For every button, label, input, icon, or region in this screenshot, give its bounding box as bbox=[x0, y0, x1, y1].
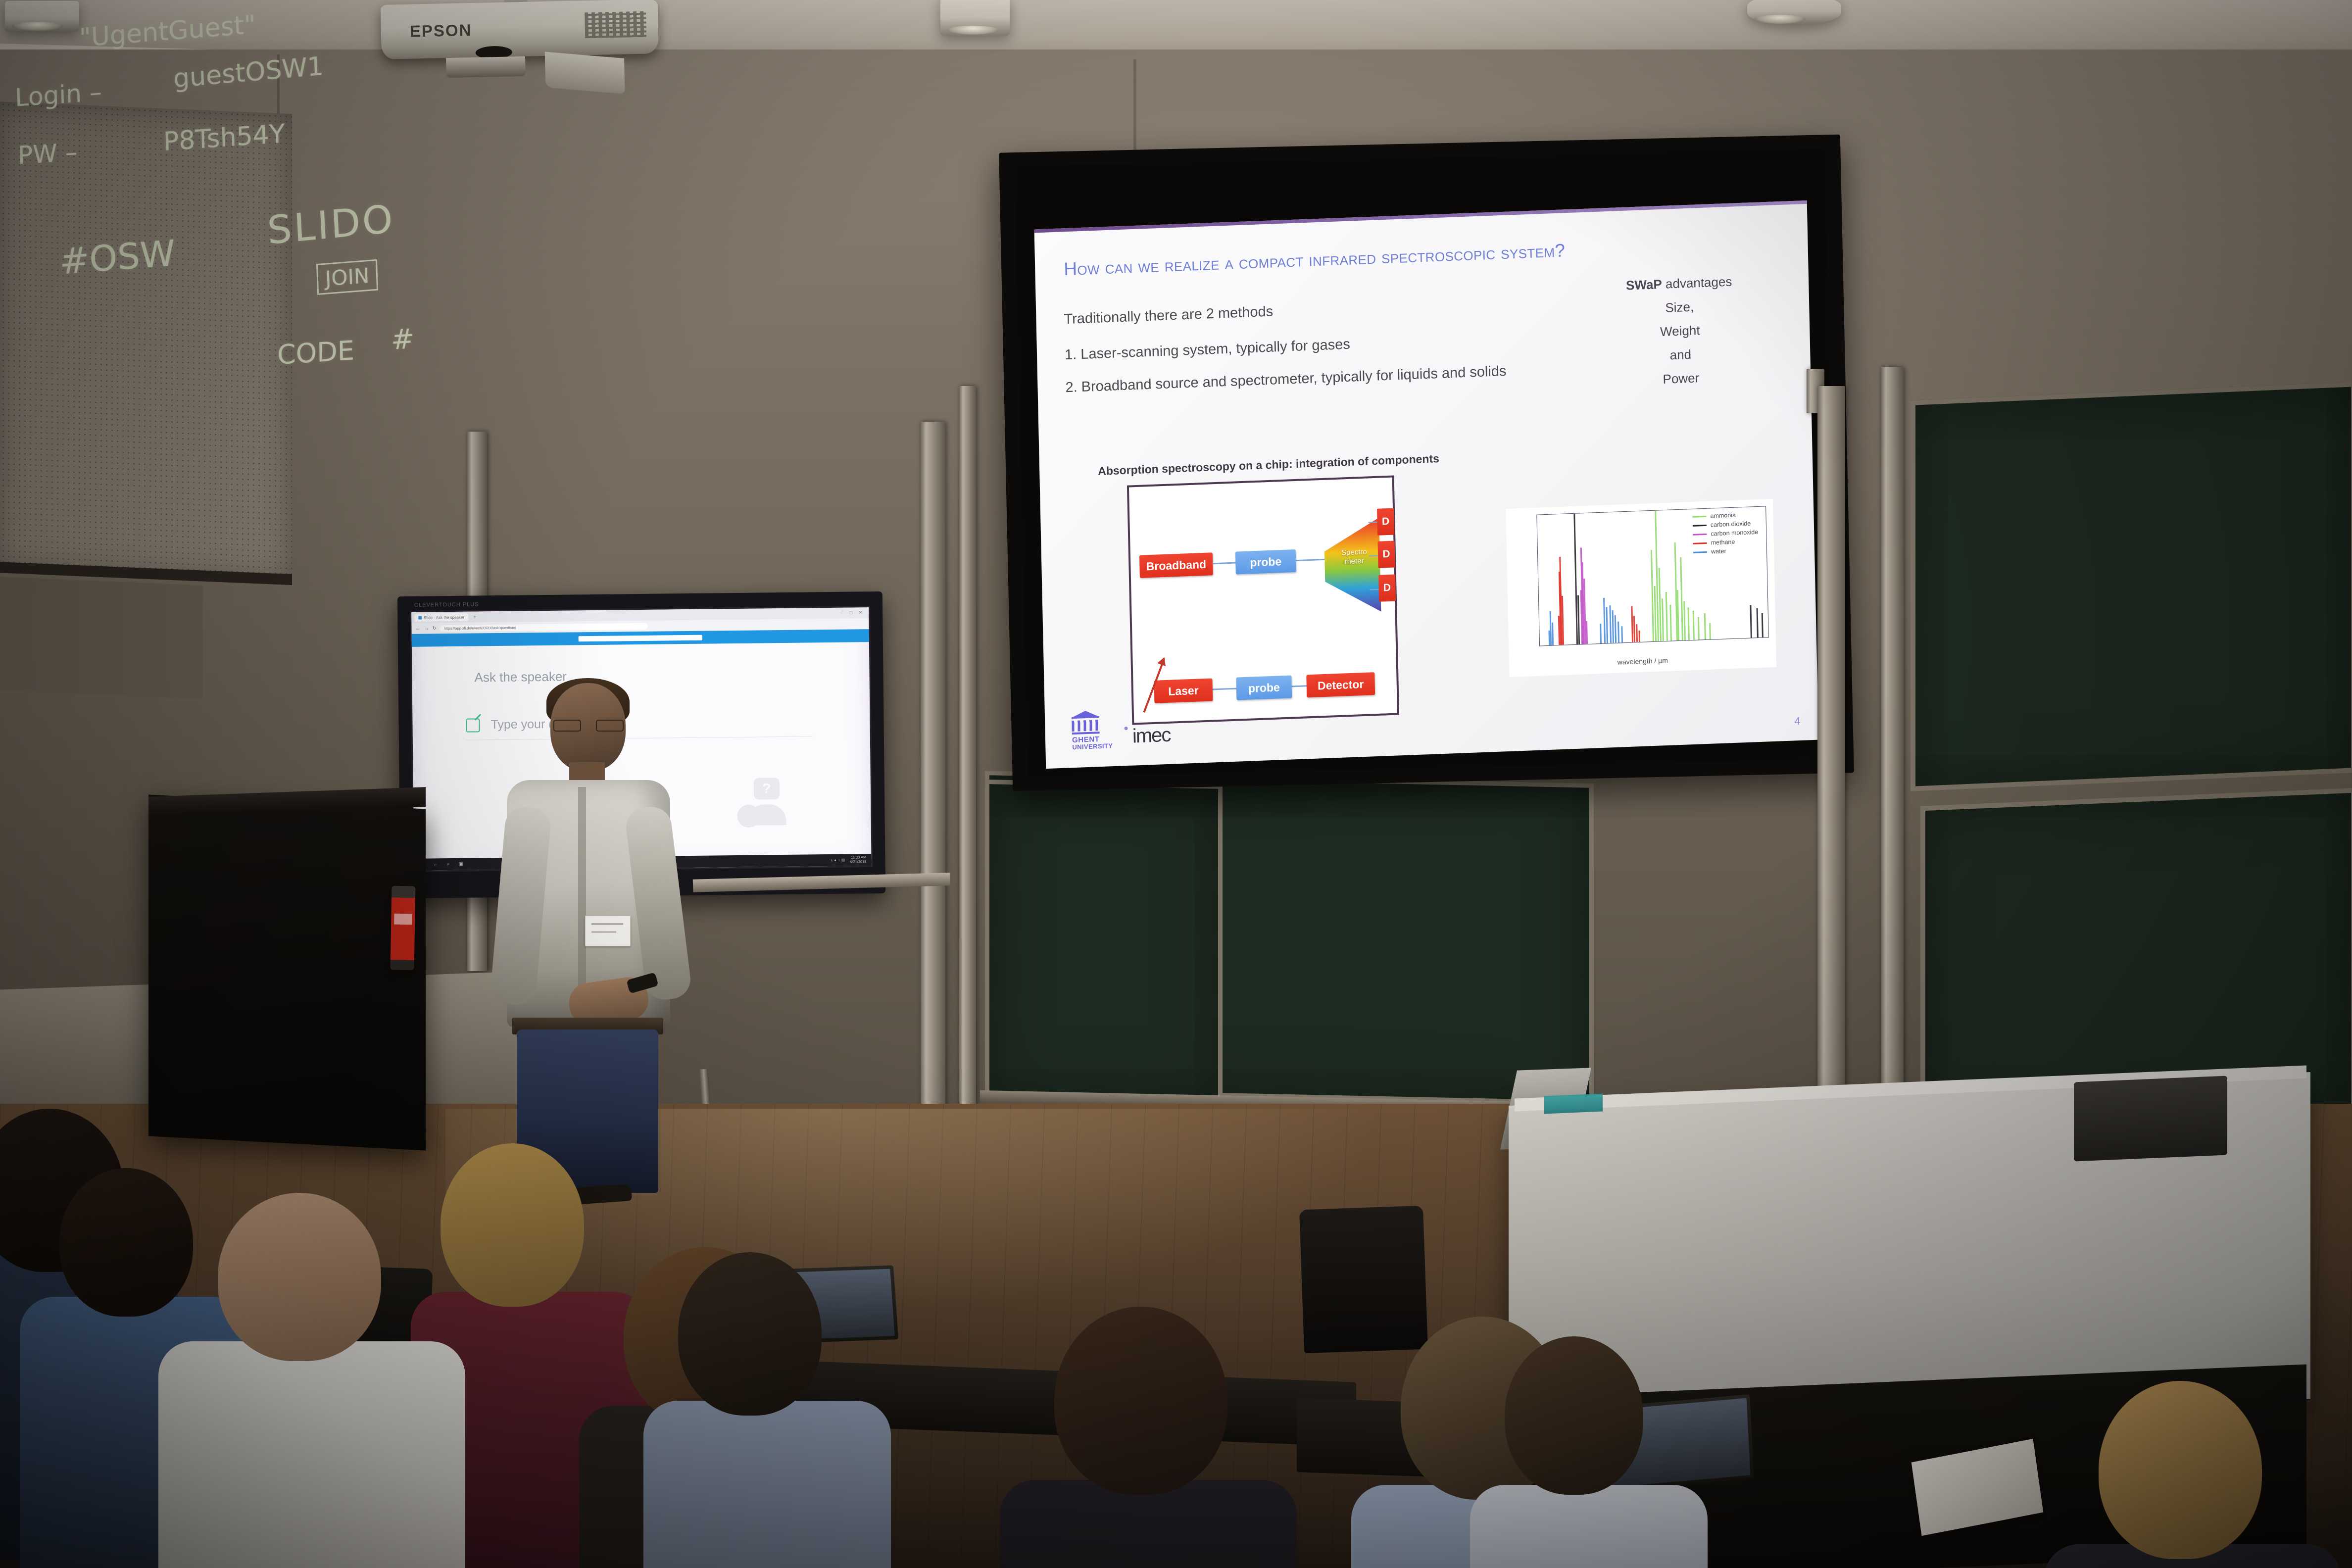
audience-head bbox=[218, 1193, 381, 1361]
imec-logo-dot-icon bbox=[1124, 727, 1127, 730]
spectrum-peak bbox=[1586, 621, 1588, 644]
legend-color-swatch bbox=[1693, 515, 1707, 517]
spectrum-peak bbox=[1636, 624, 1638, 642]
chart-legend: ammoniacarbon dioxidecarbon monoxidemeth… bbox=[1692, 511, 1759, 558]
back-button-icon[interactable]: ← bbox=[415, 626, 420, 631]
diagram-caption: Absorption spectroscopy on a chip: integ… bbox=[1098, 452, 1439, 478]
chart-legend-item: water bbox=[1693, 546, 1759, 556]
taskbar-back-icon[interactable]: ← bbox=[433, 862, 438, 867]
room-pillar-right-b bbox=[1881, 367, 1904, 1179]
chart-x-tick: 16 bbox=[1765, 639, 1769, 646]
wire-laser-probe bbox=[1212, 688, 1238, 690]
projector-body: EPSON bbox=[381, 0, 659, 59]
wire-probe-detector bbox=[1291, 685, 1309, 687]
spectrum-peak bbox=[1638, 631, 1640, 642]
projector-bracket bbox=[446, 56, 526, 78]
wire-probe-spectrometer bbox=[1295, 559, 1325, 561]
audience-body bbox=[1470, 1485, 1708, 1568]
node-probe-top: probe bbox=[1235, 549, 1296, 575]
lectern bbox=[148, 794, 426, 1150]
chart-legend-item: methane bbox=[1693, 538, 1759, 547]
question-bubble-icon bbox=[754, 778, 780, 800]
spectrum-peak bbox=[1617, 622, 1619, 643]
slide-bullet-1: 1. Laser-scanning system, typically for … bbox=[1065, 337, 1350, 364]
spectrum-peak bbox=[1704, 613, 1706, 639]
chalk-join-box: JOIN bbox=[316, 259, 378, 295]
chalk-hashtag: #OSW bbox=[59, 232, 176, 283]
node-detector-3: D bbox=[1378, 574, 1396, 601]
chalk-code-label: CODE bbox=[277, 335, 354, 370]
chart-x-tick: 8 bbox=[1636, 644, 1640, 646]
legend-color-swatch bbox=[1693, 542, 1707, 544]
slide-intro-text: Traditionally there are 2 methods bbox=[1064, 303, 1273, 328]
room-pillar-center-a bbox=[921, 422, 945, 1164]
spectrum-peak bbox=[1615, 615, 1617, 643]
spectrum-peak bbox=[1651, 550, 1654, 641]
legend-label: carbon dioxide bbox=[1711, 520, 1751, 528]
spectrum-peak bbox=[1683, 601, 1686, 640]
spectrometer-label: Spectro meter bbox=[1330, 547, 1378, 567]
node-detector-2: D bbox=[1377, 540, 1395, 568]
legend-color-swatch bbox=[1693, 524, 1707, 526]
address-bar-input[interactable]: https://app.sli.do/event/XXXX/ask-questi… bbox=[440, 623, 648, 631]
node-broadband: Broadband bbox=[1139, 552, 1213, 578]
taskbar-taskview-icon[interactable]: ▣ bbox=[458, 861, 463, 867]
lecture-hall-photo: EPSON "UgentGuest" Login – guestOSW1 PW … bbox=[0, 0, 2352, 1568]
room-pillar-right-a bbox=[1817, 386, 1845, 1158]
spectrum-peak bbox=[1750, 605, 1752, 638]
imec-logo-text: imec bbox=[1132, 724, 1170, 747]
node-detector: Detector bbox=[1306, 672, 1375, 697]
chalk-password-label: PW – bbox=[18, 138, 78, 170]
spectrum-peak bbox=[1669, 605, 1672, 641]
spectrum-peak bbox=[1600, 624, 1602, 643]
audience-body bbox=[158, 1341, 465, 1568]
slide-title: How can we realize a compact infrared sp… bbox=[1064, 240, 1566, 280]
chart-x-tick: 10 bbox=[1667, 643, 1674, 646]
spectrum-peak bbox=[1756, 608, 1758, 637]
tray-icons[interactable]: ♪ ▲ ⌁ ▤ bbox=[831, 858, 845, 862]
spectrometer-label-line2: meter bbox=[1330, 556, 1378, 567]
swap-line-power: Power bbox=[1607, 364, 1756, 393]
ceiling-light-center bbox=[940, 0, 1010, 36]
swap-heading-prefix: SWaP bbox=[1626, 277, 1662, 293]
chart-legend-item: ammonia bbox=[1692, 511, 1758, 520]
person-head-icon bbox=[737, 805, 760, 828]
new-tab-button[interactable]: + bbox=[473, 614, 476, 620]
spectrum-peak bbox=[1603, 597, 1606, 643]
browser-tab[interactable]: Slido · Ask the speaker bbox=[414, 613, 468, 622]
display-brand-label: CLEVERTOUCH PLUS bbox=[414, 601, 479, 608]
spectrum-peak bbox=[1762, 613, 1764, 637]
epson-projector: EPSON bbox=[380, 0, 659, 74]
chart-x-tick: 6 bbox=[1604, 646, 1608, 646]
legend-color-swatch bbox=[1693, 533, 1707, 535]
wire-broadband-probe bbox=[1212, 562, 1237, 564]
chalk-guest-network: "UgentGuest" bbox=[79, 10, 256, 53]
spectrum-peak bbox=[1680, 557, 1683, 640]
audience-head bbox=[2099, 1381, 2262, 1559]
spectrum-peak bbox=[1552, 622, 1554, 645]
chart-x-tick: 12 bbox=[1700, 642, 1707, 646]
spectrum-peak bbox=[1709, 623, 1711, 639]
room-pillar-center-b bbox=[959, 386, 976, 1158]
slide-number: 4 bbox=[1794, 715, 1801, 728]
chalk-slido: SLIDO bbox=[266, 197, 396, 253]
spectrum-peak bbox=[1688, 607, 1690, 640]
chart-y-tick: 0 bbox=[1536, 642, 1537, 646]
swap-heading-suffix: advantages bbox=[1662, 274, 1732, 292]
ghent-temple-icon bbox=[1072, 716, 1100, 735]
spectrum-peak bbox=[1621, 626, 1623, 642]
spectrum-peak bbox=[1609, 605, 1612, 643]
spectrum-peak bbox=[1693, 610, 1695, 639]
chair-back-center bbox=[1299, 1206, 1428, 1354]
spectrum-peak bbox=[1698, 617, 1700, 639]
spectrum-peak bbox=[1633, 616, 1635, 642]
slide-accent-bar bbox=[1034, 200, 1807, 233]
swap-advantages-block: SWaP advantages Size, Weight and Power bbox=[1605, 269, 1756, 393]
presentation-slide: How can we realize a compact infrared sp… bbox=[1034, 200, 1819, 769]
taskbar-system-tray[interactable]: ♪ ▲ ⌁ ▤ 11:33 AM 6/21/2018 bbox=[831, 856, 867, 865]
legend-color-swatch bbox=[1693, 551, 1707, 553]
compose-pencil-icon bbox=[466, 718, 480, 732]
spectrum-peak bbox=[1666, 592, 1668, 641]
legend-label: ammonia bbox=[1710, 512, 1736, 520]
spectrum-peak bbox=[1606, 607, 1609, 643]
presenter bbox=[495, 683, 683, 1188]
browser-tab-title: Slido · Ask the speaker bbox=[424, 615, 464, 620]
chalk-code-value: # bbox=[391, 323, 414, 356]
taskbar-clock-date[interactable]: 11:33 AM 6/21/2018 bbox=[850, 856, 867, 865]
taskbar-date: 6/21/2018 bbox=[850, 859, 866, 864]
favicon-icon bbox=[418, 616, 422, 619]
presenter-glasses-icon bbox=[553, 720, 624, 730]
legend-label: methane bbox=[1711, 539, 1735, 546]
fire-extinguisher bbox=[391, 886, 416, 971]
spectrum-peak bbox=[1612, 610, 1614, 643]
ghent-logo-line2: UNIVERSITY bbox=[1072, 742, 1118, 751]
spectrum-peak bbox=[1549, 631, 1551, 645]
node-laser: Laser bbox=[1154, 678, 1213, 703]
audience-head bbox=[678, 1252, 822, 1416]
chart-x-tick: 14 bbox=[1732, 640, 1740, 646]
desk-monitor-rear bbox=[2074, 1076, 2227, 1162]
slide-bullet-2: 2. Broadband source and spectrometer, ty… bbox=[1065, 363, 1507, 396]
legend-label: carbon monoxide bbox=[1711, 529, 1758, 538]
chalkboard-writing-layer: "UgentGuest" Login – guestOSW1 PW – P8Ts… bbox=[0, 0, 419, 761]
chalk-login-label: Login – bbox=[14, 78, 102, 112]
ceiling-light-right bbox=[1747, 0, 1841, 25]
audience-head bbox=[1054, 1307, 1227, 1495]
projector-shelf bbox=[545, 52, 625, 94]
desk-teal-card bbox=[1544, 1094, 1603, 1114]
audience-head bbox=[1505, 1336, 1643, 1495]
slido-empty-state-illustration bbox=[737, 778, 797, 852]
reload-button-icon[interactable]: ↻ bbox=[432, 626, 437, 631]
audience-head bbox=[441, 1143, 584, 1307]
spectrum-peak bbox=[1662, 598, 1664, 641]
chart-plot-area: ammoniacarbon dioxidecarbon monoxidemeth… bbox=[1536, 506, 1769, 646]
chart-legend-item: carbon dioxide bbox=[1693, 520, 1758, 529]
spectrum-peak bbox=[1658, 568, 1661, 641]
audience-body bbox=[643, 1401, 891, 1568]
chalkboard-center-right bbox=[985, 780, 1223, 1101]
presenter-name-badge bbox=[585, 916, 631, 946]
chip-integration-diagram: Broadband probe Spectro meter D D D Lase… bbox=[1127, 475, 1399, 725]
window-controls[interactable]: – □ ✕ bbox=[841, 610, 865, 616]
chart-legend-item: carbon monoxide bbox=[1693, 529, 1758, 538]
chalk-login-value: guestOSW1 bbox=[173, 51, 324, 94]
projection-screen-inner: How can we realize a compact infrared sp… bbox=[1014, 148, 1838, 777]
chalkboard-right-upper bbox=[1911, 382, 2352, 791]
slido-header-logo bbox=[579, 635, 702, 642]
ghent-university-logo: GHENT UNIVERSITY bbox=[1072, 715, 1118, 751]
projection-screen: How can we realize a compact infrared sp… bbox=[999, 135, 1854, 791]
chalk-password-value: P8Tsh54Y bbox=[163, 119, 285, 157]
presenter-shirt-placket bbox=[578, 787, 586, 995]
forward-button-icon[interactable]: → bbox=[424, 626, 429, 631]
absorption-spectra-chart: absorption coefficient / cm⁻¹ wavelength… bbox=[1506, 499, 1776, 677]
audience-head bbox=[59, 1168, 193, 1317]
legend-label: water bbox=[1711, 547, 1726, 555]
projector-vents bbox=[585, 11, 646, 39]
taskbar-search-icon[interactable]: ⌕ bbox=[447, 862, 450, 867]
node-probe-bottom: probe bbox=[1236, 675, 1292, 700]
imec-logo: imec bbox=[1132, 724, 1170, 748]
node-detector-1: D bbox=[1377, 508, 1394, 536]
chart-x-axis-label: wavelength / µm bbox=[1509, 652, 1776, 670]
